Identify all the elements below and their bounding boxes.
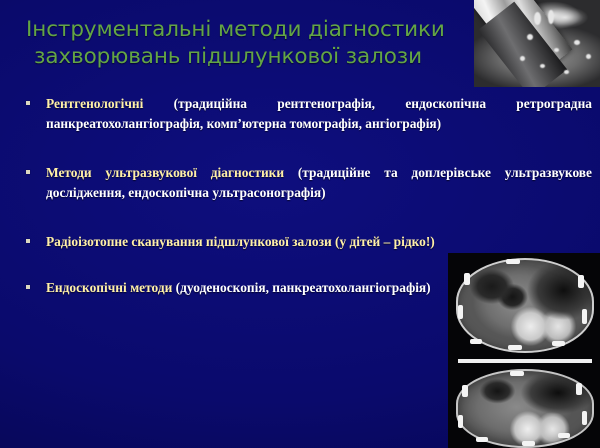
bullet-square-icon bbox=[26, 239, 30, 243]
bullet-square-icon bbox=[26, 170, 30, 174]
list-item: Радіоізотопне сканування підшлункової за… bbox=[16, 232, 592, 252]
slide-title: Інструментальні методи діагностики захво… bbox=[26, 16, 456, 70]
list-item-detail: (дуоденоскопія, панкреатохолангіографія) bbox=[172, 280, 430, 295]
presentation-slide: Інструментальні методи діагностики захво… bbox=[0, 0, 600, 448]
list-item-lead: Радіоізотопне сканування підшлункової за… bbox=[46, 234, 435, 249]
bullet-square-icon bbox=[26, 101, 30, 105]
slide-title-line-1: Інструментальні методи діагностики bbox=[26, 16, 456, 43]
list-item-text: Радіоізотопне сканування підшлункової за… bbox=[46, 232, 456, 252]
list-item-lead: Ендоскопічні методи bbox=[46, 280, 172, 295]
slide-title-line-2: захворювань підшлункової залози bbox=[26, 43, 456, 70]
endoscopic-retrograde-cholangiography-radiograph bbox=[474, 0, 600, 87]
list-item-text: Ендоскопічні методи (дуоденоскопія, панк… bbox=[46, 278, 456, 298]
abdominal-ct-axial-slice-upper bbox=[448, 253, 600, 367]
list-item-text: Рентгенологічні (традиційна рентгенограф… bbox=[46, 94, 592, 133]
list-item-text: Методи ультразвукової діагностики (тради… bbox=[46, 163, 592, 202]
bullet-square-icon bbox=[26, 285, 30, 289]
list-item-lead: Методи ультразвукової діагностики bbox=[46, 165, 284, 180]
list-item: Методи ультразвукової діагностики (тради… bbox=[16, 163, 592, 202]
list-item: Рентгенологічні (традиційна рентгенограф… bbox=[16, 94, 592, 133]
list-item-lead: Рентгенологічні bbox=[46, 96, 143, 111]
abdominal-ct-axial-slice-lower bbox=[448, 367, 600, 448]
